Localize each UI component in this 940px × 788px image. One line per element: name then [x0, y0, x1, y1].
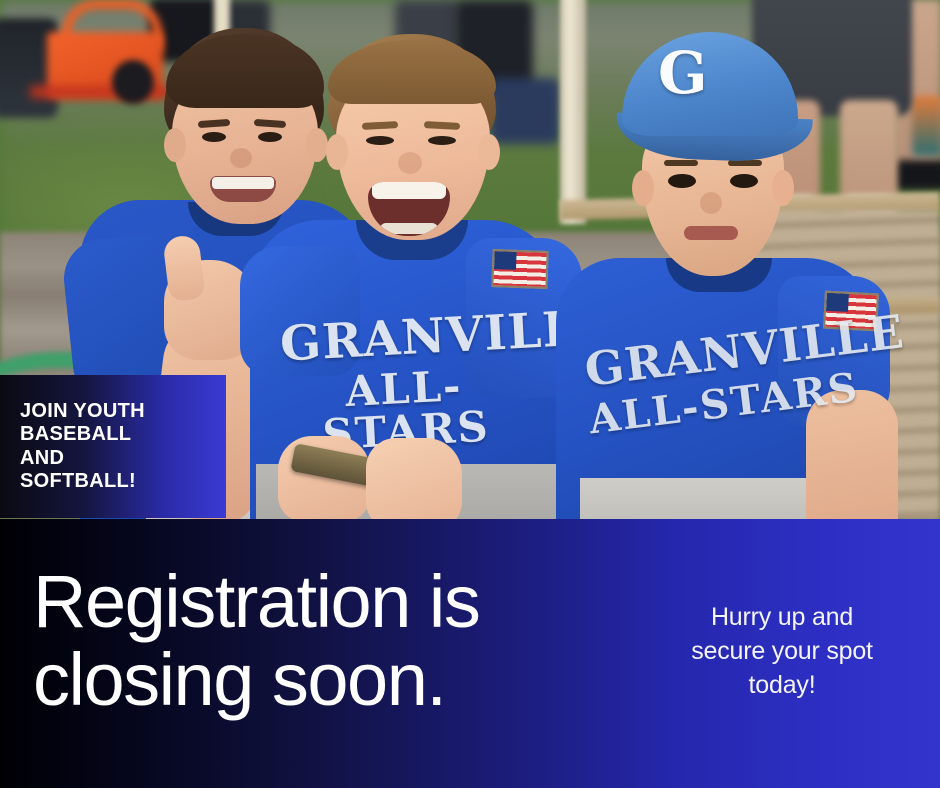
right-player-jersey-text: GRANVILLE ALL-STARS — [584, 330, 864, 450]
center-player-shoulder-left — [240, 246, 360, 376]
equipment-wagon-wheel — [112, 60, 154, 104]
right-player-mouth — [684, 226, 738, 240]
poster-canvas: GRANVILLE ALL-STARS — [0, 0, 940, 788]
center-player-eye-left — [366, 136, 394, 145]
right-player-eye-right — [730, 174, 758, 188]
center-player-ear-left — [326, 134, 348, 170]
equipment-wagon-rail — [30, 86, 180, 98]
left-player-ear-left — [164, 128, 186, 162]
center-player-nose — [398, 152, 422, 174]
join-banner-line-2: Baseball — [20, 423, 145, 446]
left-player-ear-right — [306, 128, 328, 162]
join-banner: Join Youth Baseball And Softball! — [0, 375, 226, 518]
hero-photo: GRANVILLE ALL-STARS — [0, 0, 940, 519]
flag-canton — [826, 293, 849, 312]
flag-canton — [494, 251, 517, 270]
join-banner-line-4: Softball! — [20, 470, 145, 493]
right-player-pants — [580, 478, 830, 519]
subheadline-line-1: Hurry up and — [648, 601, 916, 635]
subheadline-line-3: today! — [648, 669, 916, 703]
right-player-nose — [700, 192, 722, 214]
center-player-ear-right — [478, 134, 500, 170]
right-player-ear-right — [772, 170, 794, 206]
left-player-mouth — [210, 176, 276, 202]
center-player-teeth-lower — [380, 223, 438, 234]
join-banner-text: Join Youth Baseball And Softball! — [0, 400, 153, 493]
bottom-message-bar: Registration is closing soon. Hurry up a… — [0, 519, 940, 788]
center-player-hand-right — [366, 438, 462, 519]
subheadline-line-2: secure your spot — [648, 635, 916, 669]
background-water-bottle — [912, 96, 940, 156]
background-gear-b — [490, 78, 560, 144]
right-player-brow-left — [664, 160, 698, 166]
us-flag-patch-icon — [491, 249, 548, 289]
left-player-nose — [230, 148, 252, 168]
join-banner-line-3: And — [20, 447, 145, 470]
center-player-mouth — [368, 182, 450, 236]
center-player-eye-right — [428, 136, 456, 145]
cap-logo-letter: G — [658, 44, 708, 102]
join-banner-line-1: Join Youth — [20, 400, 145, 423]
left-player-eye-right — [258, 132, 282, 142]
left-player-teeth — [212, 177, 274, 189]
right-player-ear-left — [632, 170, 654, 206]
right-player-eye-left — [668, 174, 696, 188]
background-wooden-pole — [560, 0, 586, 224]
headline: Registration is closing soon. — [33, 563, 479, 720]
subheadline: Hurry up and secure your spot today! — [648, 601, 916, 702]
center-player-teeth-upper — [372, 182, 446, 199]
left-player-eye-left — [202, 132, 226, 142]
headline-line-2: closing soon. — [33, 641, 479, 719]
headline-line-1: Registration is — [33, 563, 479, 641]
right-player-brow-right — [728, 160, 762, 166]
